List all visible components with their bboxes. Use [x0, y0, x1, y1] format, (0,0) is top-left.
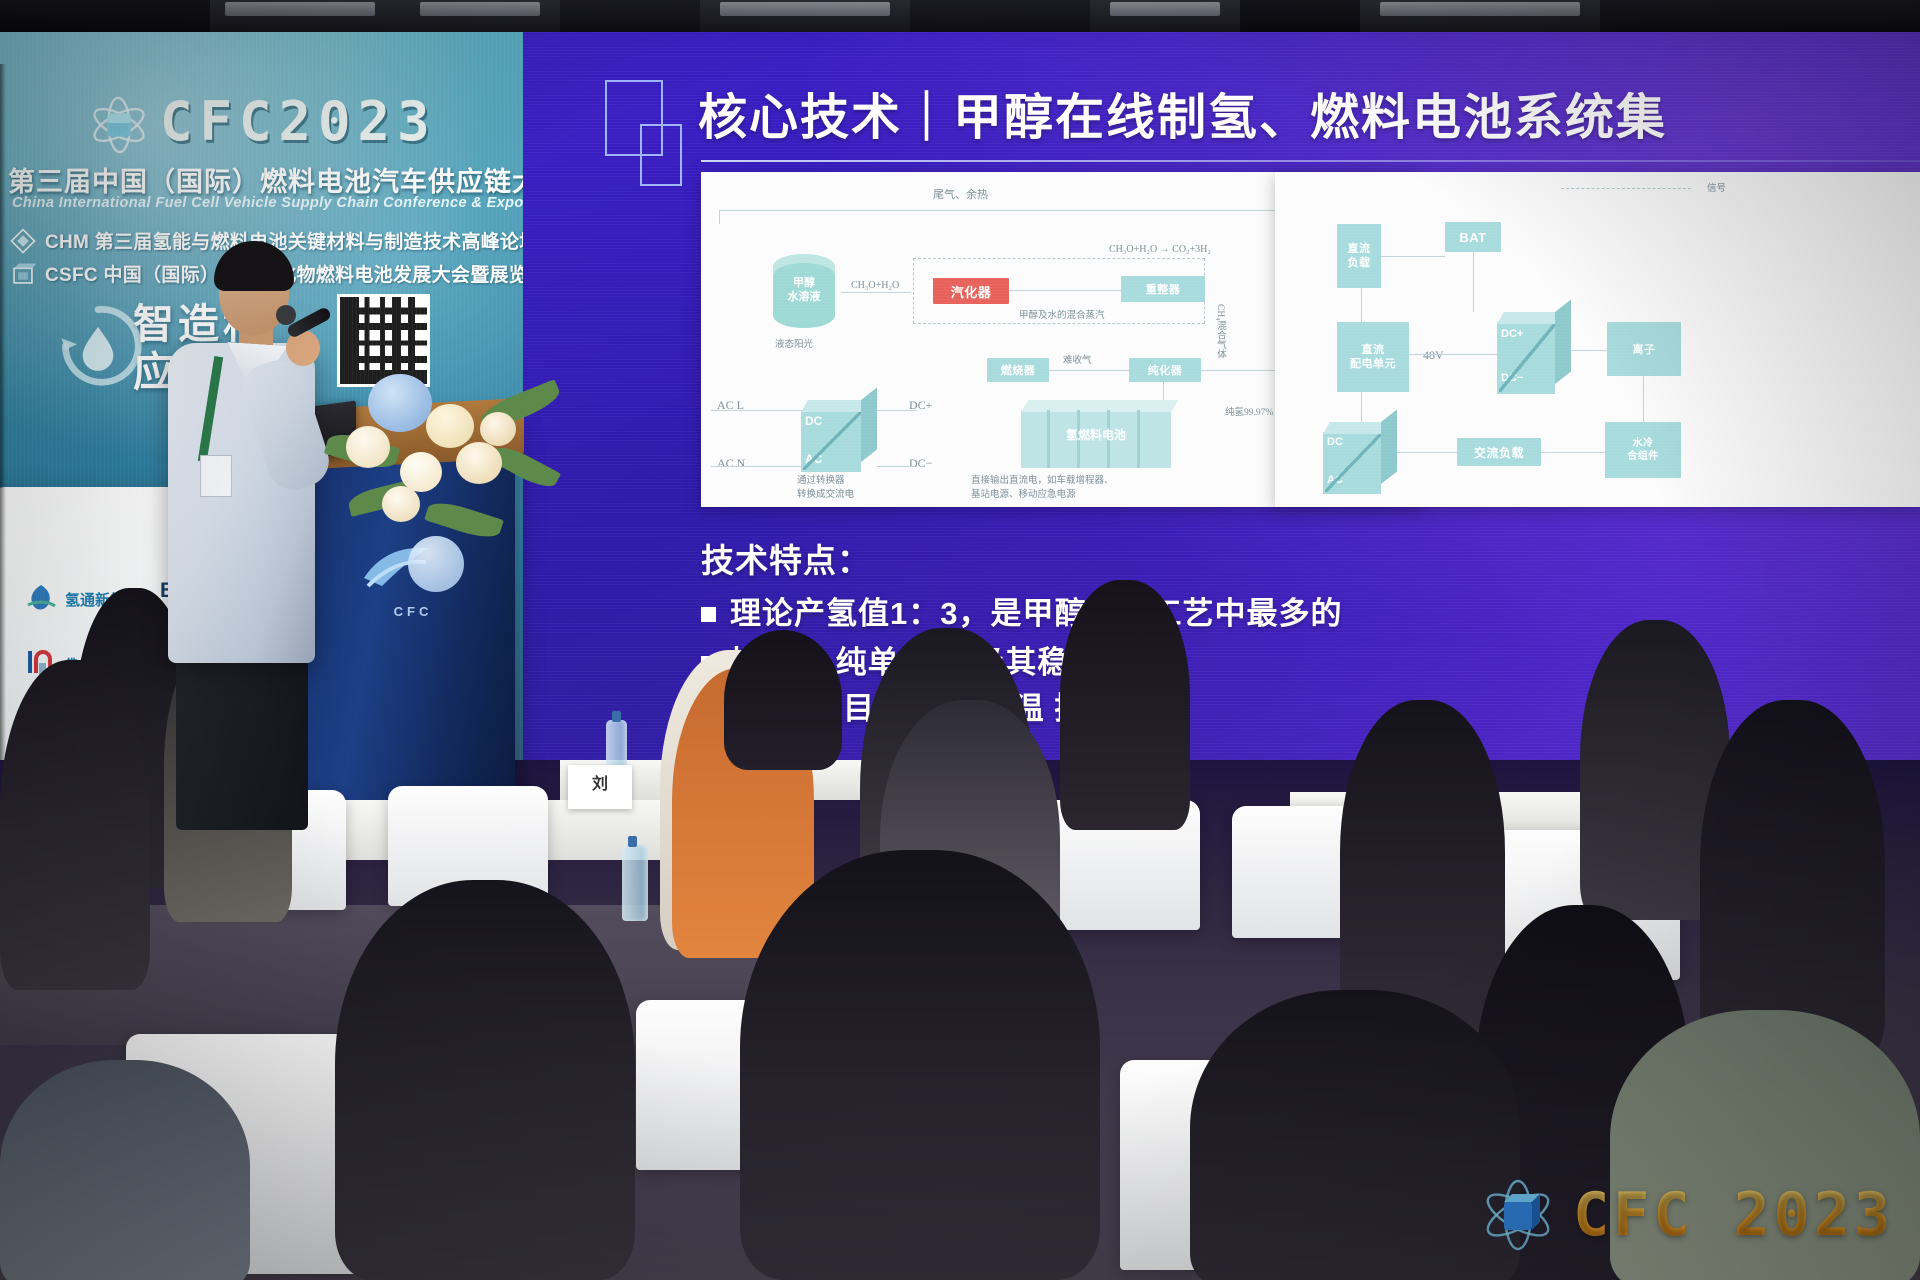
reformer-box: 重整器	[1121, 276, 1205, 302]
watermark-text: CFC 2023	[1573, 1180, 1894, 1250]
speaker-badge	[200, 455, 232, 497]
flow-line	[719, 210, 1299, 211]
watermark: CFC 2023	[1479, 1176, 1894, 1254]
bat-box: BAT	[1445, 222, 1501, 252]
feature-label: 理论产氢值1：3，是甲醇制氢工艺中最多的	[730, 596, 1342, 631]
podium-label: CFC	[318, 604, 508, 619]
hydrogen-molecule-icon	[88, 94, 150, 156]
water-cooling-box: 水冷合组件	[1605, 422, 1681, 478]
name-card: 刘	[568, 765, 632, 809]
leaf-shield-icon	[24, 583, 58, 613]
exhaust-label: 尾气、余热	[933, 186, 988, 202]
banner-title-cn: 第三届中国（国际）燃料电池汽车供应链大会	[8, 160, 518, 199]
dc-minus-label: DC−	[909, 456, 932, 471]
dc-load-box: 直流负载	[1337, 224, 1381, 288]
fuel-cell-label: 氢燃料电池	[1021, 426, 1171, 443]
audience-person	[0, 1060, 250, 1280]
audience-person	[1190, 990, 1520, 1280]
cube-icon	[10, 261, 36, 287]
features-heading: 技术特点：	[701, 534, 871, 582]
speaker-trousers	[176, 640, 308, 830]
cfc-cube-icon	[1479, 1176, 1557, 1254]
vaporizer-box: 汽化器	[933, 278, 1009, 304]
audience-person	[740, 850, 1100, 1280]
purity-label: 纯氢99.97%	[1225, 404, 1273, 418]
flower-arrangement	[330, 360, 560, 560]
purifier-box: 纯化器	[1129, 358, 1201, 382]
flow-line	[841, 292, 911, 293]
signal-label: 信号	[1707, 180, 1726, 194]
inverter-caption: 通过转换器转换成交流电	[797, 474, 854, 503]
audience-person	[0, 660, 150, 990]
dcdc-converter-cube: DC+ DC−	[1497, 312, 1571, 398]
diamond-icon	[10, 228, 36, 254]
dc-dist-box: 直流配电单元	[1337, 322, 1409, 392]
event-code: CFC2023	[160, 90, 437, 153]
screenshot-root: CFC2023 第三届中国（国际）燃料电池汽车供应链大会 China Inter…	[0, 0, 1920, 1280]
water-bottle	[622, 845, 648, 921]
title-underline	[701, 160, 1920, 162]
electrical-system-diagram: 信号 直流负载 BAT 直流配电单元 48V DC+ DC− 离子	[1275, 172, 1920, 507]
mix-gas-label: CH₄混合气体	[1213, 304, 1227, 359]
slide-title: 核心技术｜甲醇在线制氢、燃料电池系统集	[698, 78, 1667, 149]
reformer-formula: CH₃O+H₂O → CO₂+3H₂	[1109, 244, 1211, 255]
vaporizer-caption: 甲醇及水的混合蒸汽	[1019, 307, 1105, 321]
burner-box: 燃烧器	[987, 358, 1049, 382]
forum-row-chm-label: CHM 第三届氢能与燃料电池关键材料与制造技术高峰论坛	[45, 232, 523, 253]
audience-person	[1700, 700, 1885, 1060]
methanol-tank: 甲醇水溶液	[773, 254, 835, 328]
banner-title-en: China International Fuel Cell Vehicle Su…	[12, 195, 523, 211]
output-caption: 直接输出直流电，如车载增程器、基站电源、移动应急电源	[971, 474, 1114, 503]
flow-line	[1049, 370, 1129, 371]
ac-n-label: AC N	[717, 456, 745, 471]
feature-item-1: 理论产氢值1：3，是甲醇制氢工艺中最多的	[701, 588, 1342, 633]
recycle-water-drop-icon	[52, 300, 144, 392]
wall-bezel	[0, 64, 6, 854]
inverter-cube: DC AC	[801, 400, 877, 474]
bullet-square-icon	[701, 607, 716, 622]
liquid-sunshine-caption: 液态阳光	[775, 336, 813, 350]
audience-person	[1060, 580, 1190, 830]
fuel-cell-stack: 氢燃料电池	[1021, 400, 1171, 470]
audience-person	[1340, 700, 1505, 1030]
inverter-cube-2: DC AC	[1323, 422, 1397, 498]
voltage-label: 48V	[1423, 348, 1444, 363]
purifier-in-label: 难收气	[1063, 352, 1092, 366]
double-square-outline-icon-b	[640, 124, 682, 186]
flow-line	[719, 210, 720, 224]
audience-person	[724, 630, 842, 770]
audience-person	[335, 880, 635, 1280]
microphone-head	[276, 305, 296, 325]
ac-load-box: 交流负载	[1457, 438, 1541, 466]
ion-box: 离子	[1607, 322, 1681, 376]
inlet-formula: CH₃O+H₂O	[851, 280, 899, 291]
flow-line	[1009, 290, 1121, 291]
